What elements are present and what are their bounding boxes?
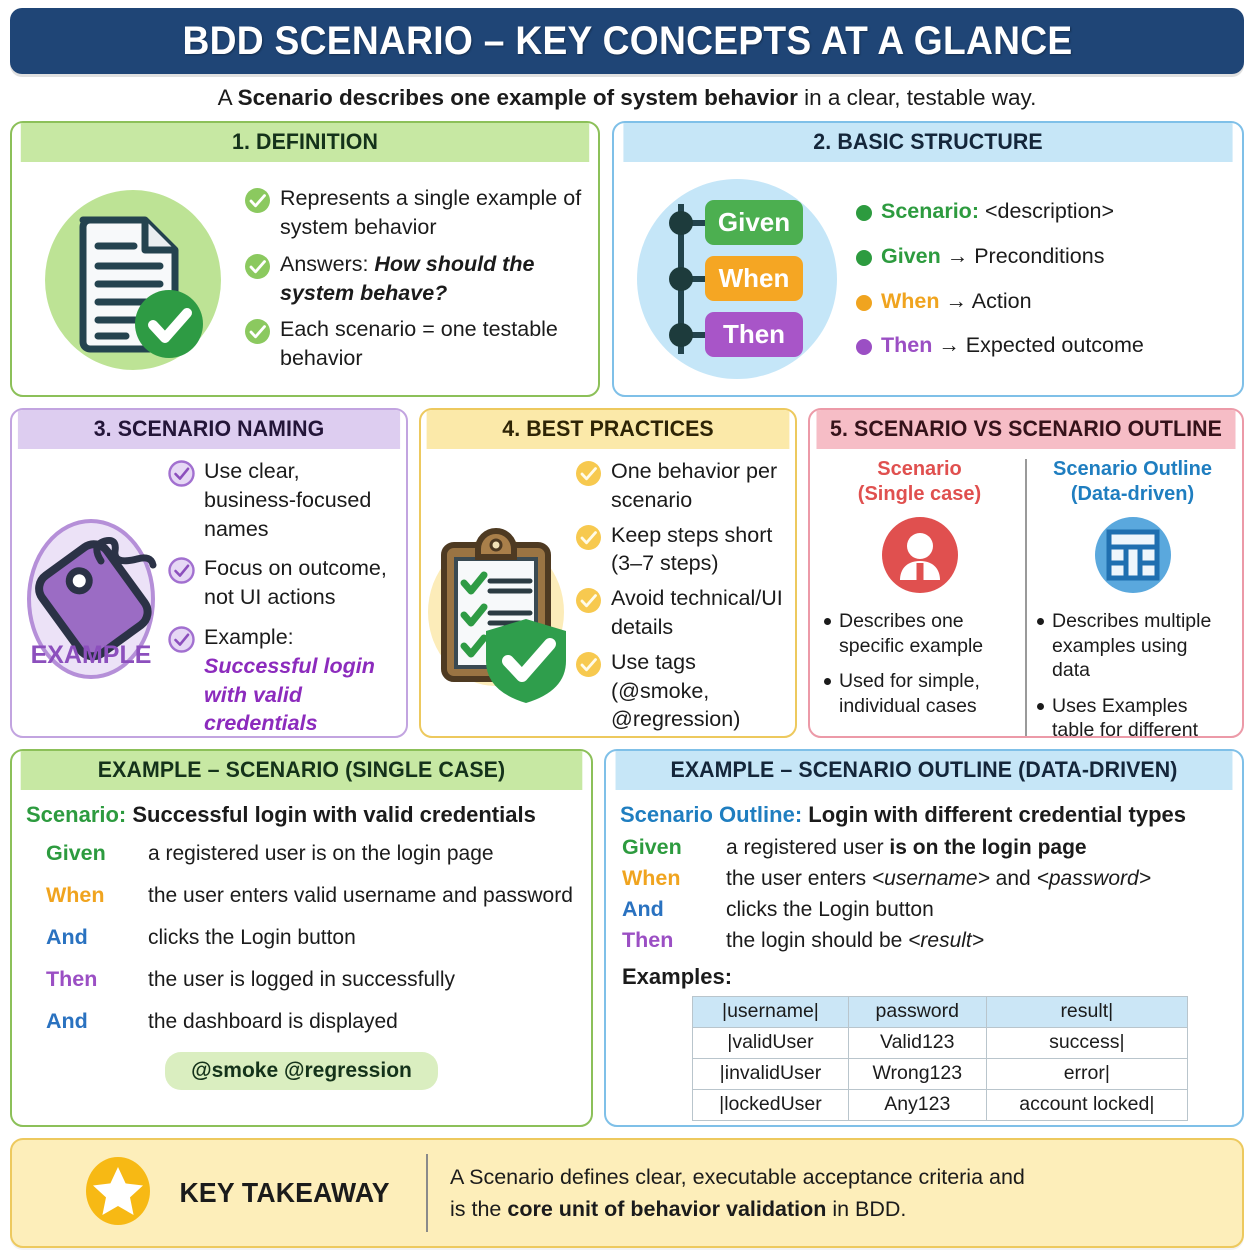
table-cell: error| [986,1059,1187,1090]
person-icon [881,516,959,599]
scenario-outline-title: Scenario Outline: Login with different c… [620,802,1234,828]
check-circle-icon [168,557,195,584]
page-title: BDD SCENARIO – KEY CONCEPTS AT A GLANCE [182,19,1072,64]
table-column-header: |username| [693,997,849,1028]
gherkin-step: Givena registered user is on the login p… [616,832,1234,863]
table-row: |lockedUser Any123 account locked| [693,1090,1188,1121]
key-takeaway-bar: KEY TAKEAWAY A Scenario defines clear, e… [10,1138,1244,1248]
key-takeaway-line1: A Scenario defines clear, executable acc… [450,1161,1025,1193]
table-cell: Wrong123 [848,1059,986,1090]
panel-example-scenario-outline: EXAMPLE – SCENARIO OUTLINE (DATA-DRIVEN)… [604,749,1244,1127]
list-item-label: Example: Successful login with valid cre… [204,623,396,738]
keyword-label: When [881,289,940,313]
key-takeaway-line2: is the core unit of behavior validation … [450,1193,1025,1225]
scenario-keyword: Scenario: [26,802,126,827]
compare-col-scenario-outline: Scenario Outline (Data-driven) [1029,455,1236,738]
gherkin-step: Andthe dashboard is displayed [22,1000,581,1042]
panel-basic-structure-items: Scenario: <description> Given → Precondi… [850,170,1232,387]
list-item: When → Action [856,287,1232,316]
list-item: Then → Expected outcome [856,331,1232,360]
divider [1025,459,1027,738]
list-item-label: Represents a single example of system be… [280,184,588,242]
panel-scenario-vs-outline-heading: 5. SCENARIO VS SCENARIO OUTLINE [816,410,1235,449]
keyword-label: Scenario: [881,199,979,223]
subtitle-bold: Scenario describes one example of system… [238,85,798,110]
panel-scenario-naming: 3. SCENARIO NAMING EXAMPLE [10,408,408,738]
list-item-label: One behavior per scenario [611,457,789,515]
check-circle-icon [168,626,195,653]
bullet-prefix: Example: [204,625,294,649]
step-text: the user enters valid username and passw… [148,884,573,908]
gherkin-step: Whenthe user enters valid username and p… [22,874,581,916]
gherkin-steps: Givena registered user is on the login p… [22,832,581,1042]
list-item-label: Avoid technical/UI details [611,584,789,642]
bullet-dot-icon [856,295,872,311]
infographic-page: BDD SCENARIO – KEY CONCEPTS AT A GLANCE … [0,0,1254,1254]
row-examples: EXAMPLE – SCENARIO (SINGLE CASE) Scenari… [10,749,1244,1127]
gherkin-step: Whenthe user enters <username> and <pass… [616,863,1234,894]
scenario-title: Scenario: Successful login with valid cr… [26,802,581,828]
panel-definition-heading: 1. DEFINITION [21,123,589,162]
gherkin-steps: Givena registered user is on the login p… [616,832,1234,956]
check-circle-icon [244,253,271,280]
table-cell: Valid123 [848,1028,986,1059]
panel-example-scenario: EXAMPLE – SCENARIO (SINGLE CASE) Scenari… [10,749,593,1127]
step-keyword: And [616,897,726,922]
scenario-name: Successful login with valid credentials [126,802,536,827]
panel-definition-bullets: Represents a single example of system be… [244,170,588,387]
panel-scenario-vs-outline: 5. SCENARIO VS SCENARIO OUTLINE Scenario… [808,408,1244,738]
list-item: One behavior per scenario [575,457,789,515]
subtitle-pre: A [218,85,238,110]
table-cell: success| [986,1028,1187,1059]
svg-text:When: When [719,263,790,293]
list-item: Keep steps short (3–7 steps) [575,521,789,579]
step-text: clicks the Login button [726,898,934,922]
bullet-dot-icon [856,205,872,221]
item-text: → Action [940,289,1032,313]
list-item: Given → Preconditions [856,242,1232,271]
subtitle-post: in a clear, testable way. [798,85,1036,110]
scenario-outline-keyword: Scenario Outline: [620,802,802,827]
item-text: <description> [979,199,1114,223]
compare-list-scenario-outline: Describes multiple examples using data U… [1035,609,1230,738]
compare-subtitle-scenario: (Single case) [858,482,981,507]
list-item: Use tags (@smoke, @regression) when need… [575,648,789,738]
key-takeaway-text: A Scenario defines clear, executable acc… [450,1161,1025,1226]
compare-col-scenario: Scenario (Single case) [816,455,1023,738]
status-badge-tags: @smoke @regression [165,1052,438,1090]
panel-basic-structure-heading: 2. BASIC STRUCTURE [623,123,1232,162]
table-cell: |validUser [693,1028,849,1059]
panel-best-practices-bullets: One behavior per scenario Keep steps sho… [575,457,789,738]
document-check-icon [22,170,244,387]
table-column-header: password [848,997,986,1028]
panel-basic-structure: 2. BASIC STRUCTURE [612,121,1244,397]
gherkin-step: Andclicks the Login button [22,916,581,958]
gherkin-step: Thenthe user is logged in successfully [22,958,581,1000]
panel-scenario-naming-bullets: Use clear, business-focused names Focus … [168,457,396,738]
tag-icon-label: EXAMPLE [31,641,152,669]
item-text: → Expected outcome [932,333,1144,357]
step-keyword: And [22,925,148,950]
list-item: Describes multiple examples using data [1037,609,1230,683]
compare-title-scenario-outline: Scenario Outline [1053,457,1212,482]
keyword-label: Given [881,244,941,268]
key-takeaway-label: KEY TAKEAWAY [180,1177,390,1209]
list-item-label: Used for simple, individual cases [839,669,1017,718]
step-text: clicks the Login button [148,926,356,950]
check-circle-icon [575,651,602,678]
keyword-label: Then [881,333,932,357]
compare-title-scenario: Scenario [858,457,981,482]
panel-best-practices: 4. BEST PRACTICES [419,408,797,738]
bullet-emphasis: Successful login with valid credentials [204,654,375,736]
list-item-label: Focus on outcome, not UI actions [204,554,396,612]
panel-scenario-naming-heading: 3. SCENARIO NAMING [18,410,400,449]
table-row: |validUser Valid123 success| [693,1028,1188,1059]
table-cell: |invalidUser [693,1059,849,1090]
row-middle: 3. SCENARIO NAMING EXAMPLE [10,408,1244,738]
table-cell: |lockedUser [693,1090,849,1121]
list-item: Answers: How should the system behave? [244,250,588,308]
check-circle-icon [575,587,602,614]
list-item: Scenario: <description> [856,197,1232,226]
item-text: → Preconditions [941,244,1105,268]
page-subtitle: A Scenario describes one example of syst… [10,74,1244,121]
svg-text:Then: Then [723,319,785,349]
step-text: a registered user is on the login page [726,836,1087,860]
page-banner: BDD SCENARIO – KEY CONCEPTS AT A GLANCE [10,8,1244,74]
panel-example-scenario-outline-heading: EXAMPLE – SCENARIO OUTLINE (DATA-DRIVEN) [616,751,1233,790]
table-cell: account locked| [986,1090,1187,1121]
examples-label: Examples: [622,964,1234,990]
check-circle-icon [244,187,271,214]
list-item-label: Use tags (@smoke, @regression) when need… [611,648,789,738]
gherkin-step: Givena registered user is on the login p… [22,832,581,874]
check-circle-icon [244,318,271,345]
timeline-given-when-then-icon: Given When Then [624,170,850,387]
panel-best-practices-heading: 4. BEST PRACTICES [427,410,790,449]
step-keyword: When [616,866,726,891]
gherkin-step: Andclicks the Login button [616,894,1234,925]
step-text: the dashboard is displayed [148,1010,398,1034]
compare-list-scenario: Describes one specific example Used for … [822,609,1017,718]
gherkin-step: Thenthe login should be <result> [616,925,1234,956]
step-keyword: Then [22,967,148,992]
list-item: Uses Examples table for different inputs [1037,694,1230,738]
scenario-outline-name: Login with different credential types [802,802,1186,827]
svg-text:Given: Given [718,207,790,237]
bullet-dot-icon [824,678,831,685]
step-text: the login should be <result> [726,929,984,953]
step-keyword: When [22,883,148,908]
clipboard-shield-check-icon [425,457,575,738]
list-item-label: Keep steps short (3–7 steps) [611,521,789,579]
list-item-label: Uses Examples table for different inputs [1052,694,1230,738]
examples-table: |username| password result| |validUser V… [692,996,1188,1121]
list-item-label: Use clear, business-focused names [204,457,396,543]
check-circle-icon [575,460,602,487]
price-tag-icon: EXAMPLE [22,457,168,738]
star-icon [82,1155,154,1232]
check-circle-icon [168,460,195,487]
table-header-row: |username| password result| [693,997,1188,1028]
list-item: Avoid technical/UI details [575,584,789,642]
list-item: Use clear, business-focused names [168,457,396,543]
compare-subtitle-scenario-outline: (Data-driven) [1053,482,1212,507]
table-grid-icon [1094,516,1172,599]
list-item: Used for simple, individual cases [824,669,1017,718]
table-cell: Any123 [848,1090,986,1121]
panel-definition: 1. DEFINITION [10,121,600,397]
divider [426,1154,428,1232]
list-item-label: Describes one specific example [839,609,1017,658]
step-keyword: Given [22,841,148,866]
step-keyword: Then [616,928,726,953]
step-keyword: Given [616,835,726,860]
table-column-header: result| [986,997,1187,1028]
bullet-dot-icon [1037,703,1044,710]
list-item: Example: Successful login with valid cre… [168,623,396,738]
list-item-label: Answers: How should the system behave? [280,250,588,308]
step-text: the user is logged in successfully [148,968,455,992]
bullet-dot-icon [824,618,831,625]
list-item: Describes one specific example [824,609,1017,658]
step-text: the user enters <username> and <password… [726,867,1151,891]
bullet-dot-icon [1037,618,1044,625]
list-item-label: Each scenario = one testable behavior [280,315,588,373]
row-top: 1. DEFINITION [10,121,1244,397]
table-row: |invalidUser Wrong123 error| [693,1059,1188,1090]
list-item: Focus on outcome, not UI actions [168,554,396,612]
list-item: Each scenario = one testable behavior [244,315,588,373]
step-keyword: And [22,1009,148,1034]
bullet-dot-icon [856,339,872,355]
list-item: Represents a single example of system be… [244,184,588,242]
panel-example-scenario-heading: EXAMPLE – SCENARIO (SINGLE CASE) [21,751,583,790]
step-text: a registered user is on the login page [148,842,494,866]
list-item-label: Describes multiple examples using data [1052,609,1230,683]
check-circle-icon [575,524,602,551]
bullet-dot-icon [856,250,872,266]
bullet-prefix: Answers: [280,252,374,276]
